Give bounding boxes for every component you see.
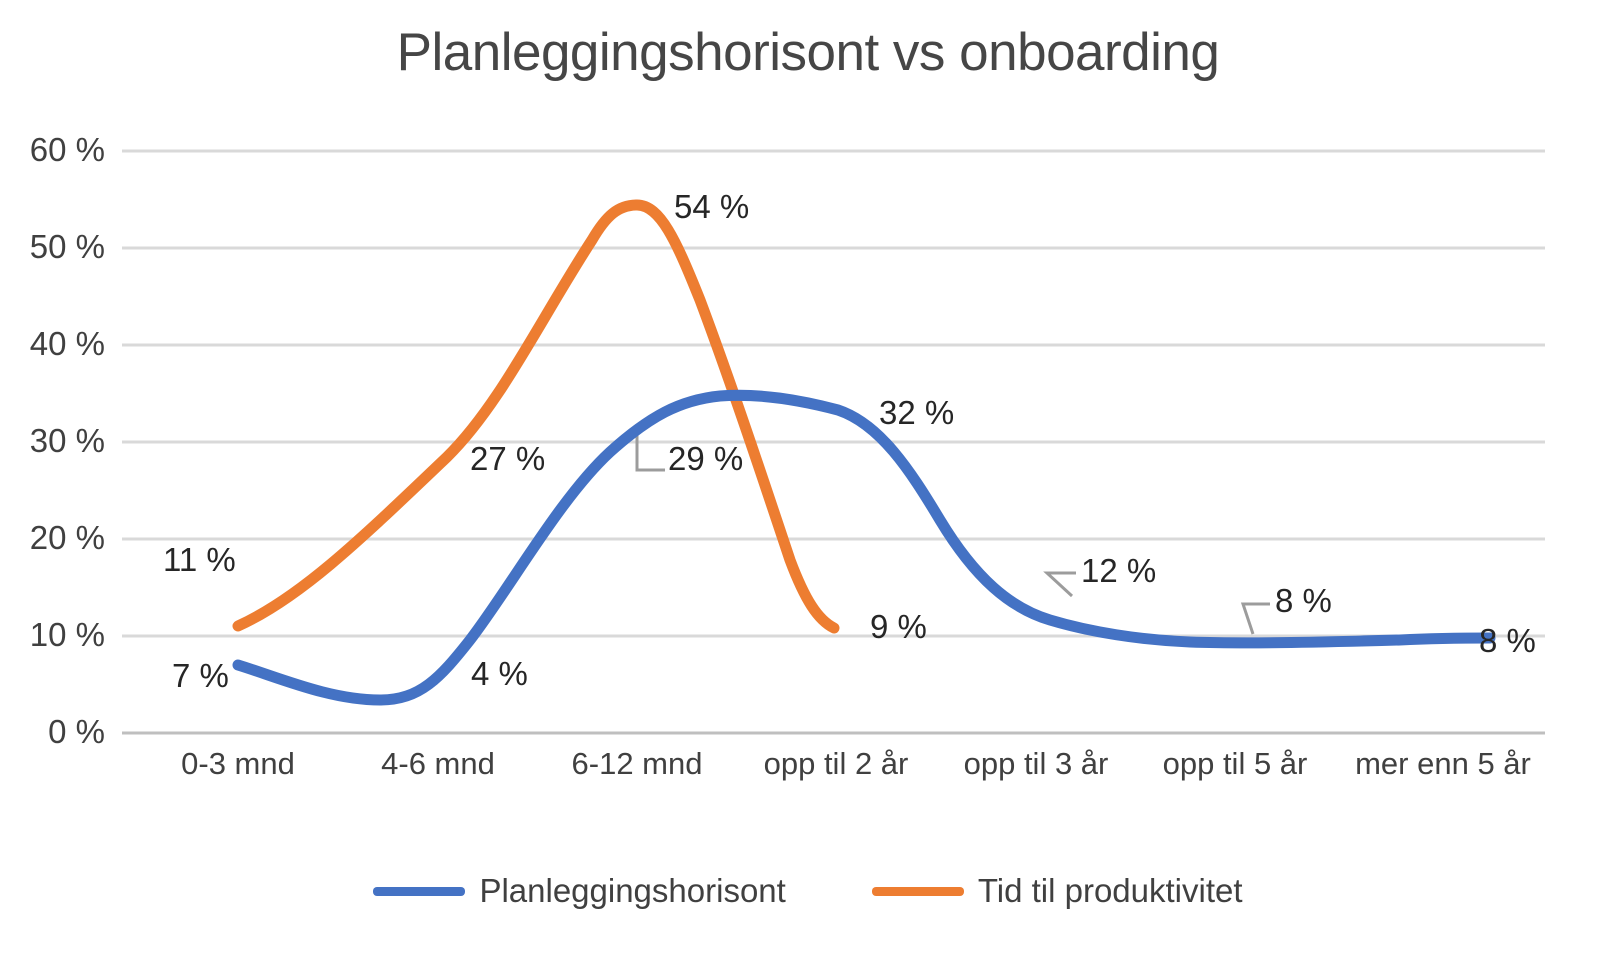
data-label-planleggingshorisont-0: 7 % xyxy=(172,657,229,695)
legend-swatch-orange-icon xyxy=(872,887,964,896)
y-axis-tick-40: 40 % xyxy=(10,325,105,363)
x-axis-tick-1: 4-6 mnd xyxy=(340,746,536,782)
y-axis-tick-50: 50 % xyxy=(10,228,105,266)
series-line-tid-til-produktivitet xyxy=(238,205,834,628)
legend-item-planleggingshorisont[interactable]: Planleggingshorisont xyxy=(373,872,785,910)
x-axis-tick-2: 6-12 mnd xyxy=(539,746,735,782)
data-label-tid-til-produktivitet-3: 9 % xyxy=(870,608,927,646)
data-label-tid-til-produktivitet-2: 54 % xyxy=(674,188,749,226)
data-label-tid-til-produktivitet-1: 27 % xyxy=(470,440,545,478)
y-axis-tick-10: 10 % xyxy=(10,616,105,654)
x-axis-tick-4: opp til 3 år xyxy=(938,746,1134,782)
data-label-planleggingshorisont-1: 4 % xyxy=(471,655,528,693)
legend-label-planleggingshorisont: Planleggingshorisont xyxy=(479,872,785,910)
plot-area xyxy=(0,0,1616,976)
data-label-tid-til-produktivitet-0: 11 % xyxy=(163,541,236,579)
data-label-planleggingshorisont-5: 8 % xyxy=(1275,582,1332,620)
data-label-planleggingshorisont-2: 29 % xyxy=(668,440,743,478)
y-axis-tick-0: 0 % xyxy=(10,713,105,751)
legend-label-tid-til-produktivitet: Tid til produktivitet xyxy=(978,872,1243,910)
x-axis-tick-3: opp til 2 år xyxy=(738,746,934,782)
y-axis-tick-30: 30 % xyxy=(10,422,105,460)
legend-swatch-blue-icon xyxy=(373,887,465,896)
data-label-planleggingshorisont-3: 32 % xyxy=(879,394,954,432)
x-axis-tick-0: 0-3 mnd xyxy=(140,746,336,782)
data-label-planleggingshorisont-6: 8 % xyxy=(1479,622,1536,660)
y-axis-tick-20: 20 % xyxy=(10,519,105,557)
x-axis-tick-6: mer enn 5 år xyxy=(1345,746,1541,782)
x-axis-tick-5: opp til 5 år xyxy=(1137,746,1333,782)
chart-legend: Planleggingshorisont Tid til produktivit… xyxy=(0,872,1616,910)
y-axis-tick-60: 60 % xyxy=(10,131,105,169)
data-label-planleggingshorisont-4: 12 % xyxy=(1081,552,1156,590)
line-chart: Planleggingshorisont vs onboarding 60 % … xyxy=(0,0,1616,976)
legend-item-tid-til-produktivitet[interactable]: Tid til produktivitet xyxy=(872,872,1243,910)
